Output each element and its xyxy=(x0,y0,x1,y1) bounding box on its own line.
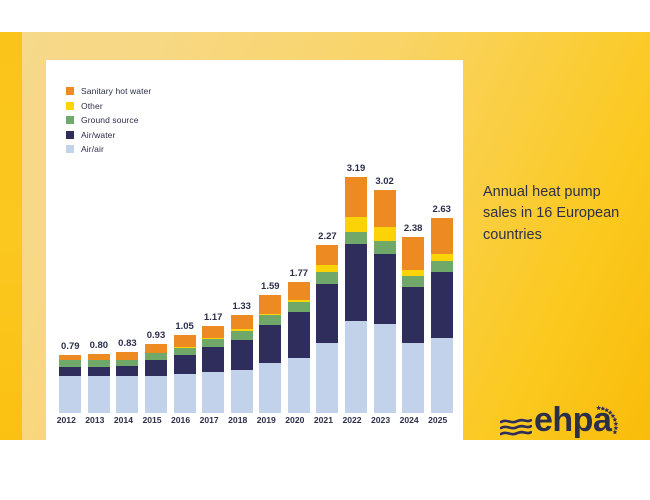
x-tick-label: 2016 xyxy=(166,415,196,425)
legend-item[interactable]: Other xyxy=(66,99,151,114)
bar-value-label: 1.33 xyxy=(232,301,251,312)
chart-title-caption: Annual heat pump sales in 16 European co… xyxy=(483,182,633,246)
bar-stack xyxy=(345,177,367,413)
chart-legend: Sanitary hot waterOtherGround sourceAir/… xyxy=(66,84,151,157)
bar-segment[interactable] xyxy=(345,232,367,245)
bar-segment[interactable] xyxy=(259,325,281,363)
bar-value-label: 3.02 xyxy=(375,176,394,187)
bar-segment[interactable] xyxy=(202,326,224,337)
bar-segment[interactable] xyxy=(174,348,196,355)
bar-segment[interactable] xyxy=(288,302,310,312)
bar-segment[interactable] xyxy=(145,353,167,360)
legend-label: Ground source xyxy=(81,116,139,125)
bar-segment[interactable] xyxy=(345,217,367,232)
bar-segment[interactable] xyxy=(345,244,367,320)
bar-segment[interactable] xyxy=(174,355,196,373)
legend-swatch-icon xyxy=(66,87,74,95)
ehpa-logo: ehpa xyxy=(500,404,625,450)
bar-segment[interactable] xyxy=(374,190,396,228)
bar-segment[interactable] xyxy=(402,237,424,270)
bar-segment[interactable] xyxy=(231,370,253,413)
slide-canvas: Sanitary hot waterOtherGround sourceAir/… xyxy=(0,0,650,500)
bar-segment[interactable] xyxy=(59,367,81,376)
legend-item[interactable]: Ground source xyxy=(66,113,151,128)
bar-segment[interactable] xyxy=(174,335,196,347)
bar-segment[interactable] xyxy=(202,339,224,347)
stacked-bar-plot: 0.790.800.830.931.051.171.331.591.772.27… xyxy=(56,155,456,413)
x-tick-label: 2023 xyxy=(366,415,396,425)
legend-swatch-icon xyxy=(66,102,74,110)
bar-segment[interactable] xyxy=(402,287,424,343)
bar-value-label: 1.05 xyxy=(175,321,194,332)
legend-swatch-icon xyxy=(66,131,74,139)
x-tick-label: 2025 xyxy=(423,415,453,425)
bar-segment[interactable] xyxy=(431,272,453,337)
bar-segment[interactable] xyxy=(145,344,167,353)
legend-label: Sanitary hot water xyxy=(81,87,151,96)
bar-segment[interactable] xyxy=(345,321,367,413)
bar-segment[interactable] xyxy=(288,282,310,300)
bar-segment[interactable] xyxy=(374,227,396,241)
bar-stack xyxy=(174,335,196,413)
legend-label: Air/water xyxy=(81,131,115,140)
eu-stars-icon xyxy=(586,400,626,445)
bar-segment[interactable] xyxy=(116,366,138,376)
bar-segment[interactable] xyxy=(59,376,81,413)
bar-stack xyxy=(288,282,310,413)
bar-value-label: 2.27 xyxy=(318,231,337,242)
bar-segment[interactable] xyxy=(431,254,453,261)
bar-segment[interactable] xyxy=(88,376,110,413)
bar-segment[interactable] xyxy=(316,343,338,413)
bar-stack xyxy=(374,190,396,413)
bar-segment[interactable] xyxy=(145,360,167,376)
chart-card: Sanitary hot waterOtherGround sourceAir/… xyxy=(46,60,463,440)
bar-segment[interactable] xyxy=(431,218,453,254)
bar-value-label: 0.79 xyxy=(61,341,80,352)
waves-icon xyxy=(500,418,532,443)
bar-segment[interactable] xyxy=(259,363,281,413)
bar-segment[interactable] xyxy=(316,272,338,284)
x-axis-tick-labels: 2012201320142015201620172018201920202021… xyxy=(56,415,456,433)
bar-stack xyxy=(88,354,110,413)
bar-segment[interactable] xyxy=(174,374,196,413)
x-tick-label: 2021 xyxy=(308,415,338,425)
bar-stack xyxy=(59,355,81,413)
bar-value-label: 1.59 xyxy=(261,281,280,292)
bar-segment[interactable] xyxy=(316,265,338,272)
x-tick-label: 2019 xyxy=(251,415,281,425)
legend-item[interactable]: Sanitary hot water xyxy=(66,84,151,99)
bar-stack xyxy=(316,245,338,413)
bar-segment[interactable] xyxy=(431,261,453,272)
x-tick-label: 2013 xyxy=(80,415,110,425)
bar-value-label: 2.38 xyxy=(404,223,423,234)
bar-segment[interactable] xyxy=(374,241,396,254)
bar-value-label: 2.63 xyxy=(432,204,451,215)
bar-stack xyxy=(259,295,281,413)
bar-stack xyxy=(402,237,424,413)
bar-segment[interactable] xyxy=(88,354,110,361)
bar-segment[interactable] xyxy=(259,295,281,313)
bar-segment[interactable] xyxy=(145,376,167,413)
bar-stack xyxy=(431,218,453,413)
bar-stack xyxy=(116,352,138,413)
bar-stack xyxy=(202,326,224,413)
bar-segment[interactable] xyxy=(431,338,453,413)
bar-value-label: 0.83 xyxy=(118,338,137,349)
bar-segment[interactable] xyxy=(374,324,396,413)
bar-value-label: 1.17 xyxy=(204,312,223,323)
bar-segment[interactable] xyxy=(316,284,338,343)
bar-segment[interactable] xyxy=(231,331,253,340)
x-tick-label: 2014 xyxy=(108,415,138,425)
bar-segment[interactable] xyxy=(202,347,224,371)
x-tick-label: 2024 xyxy=(394,415,424,425)
legend-label: Other xyxy=(81,102,103,111)
bar-segment[interactable] xyxy=(116,376,138,413)
bar-segment[interactable] xyxy=(59,360,81,367)
x-tick-label: 2022 xyxy=(337,415,367,425)
x-tick-label: 2012 xyxy=(51,415,81,425)
bar-segment[interactable] xyxy=(116,360,138,367)
bar-segment[interactable] xyxy=(202,372,224,413)
x-tick-label: 2018 xyxy=(223,415,253,425)
bar-segment[interactable] xyxy=(288,358,310,413)
legend-swatch-icon xyxy=(66,116,74,124)
yellow-accent-bar xyxy=(0,32,22,440)
bar-value-label: 0.80 xyxy=(90,340,109,351)
x-tick-label: 2015 xyxy=(137,415,167,425)
bar-segment[interactable] xyxy=(374,254,396,324)
bar-value-label: 1.77 xyxy=(290,268,309,279)
bar-segment[interactable] xyxy=(345,177,367,217)
bar-stack xyxy=(145,344,167,413)
legend-item[interactable]: Air/water xyxy=(66,128,151,143)
bar-segment[interactable] xyxy=(288,312,310,358)
bar-segment[interactable] xyxy=(259,315,281,325)
x-tick-label: 2017 xyxy=(194,415,224,425)
bar-segment[interactable] xyxy=(116,352,138,360)
bar-segment[interactable] xyxy=(231,340,253,370)
bar-segment[interactable] xyxy=(402,270,424,277)
bar-value-label: 3.19 xyxy=(347,163,366,174)
bar-segment[interactable] xyxy=(316,245,338,265)
bar-segment[interactable] xyxy=(88,360,110,367)
bar-value-label: 0.93 xyxy=(147,330,166,341)
bar-stack xyxy=(231,315,253,413)
legend-label: Air/air xyxy=(81,145,104,154)
bar-segment[interactable] xyxy=(88,367,110,376)
bar-segment[interactable] xyxy=(402,276,424,287)
x-tick-label: 2020 xyxy=(280,415,310,425)
bar-segment[interactable] xyxy=(231,315,253,330)
legend-swatch-icon xyxy=(66,145,74,153)
bar-segment[interactable] xyxy=(402,343,424,413)
